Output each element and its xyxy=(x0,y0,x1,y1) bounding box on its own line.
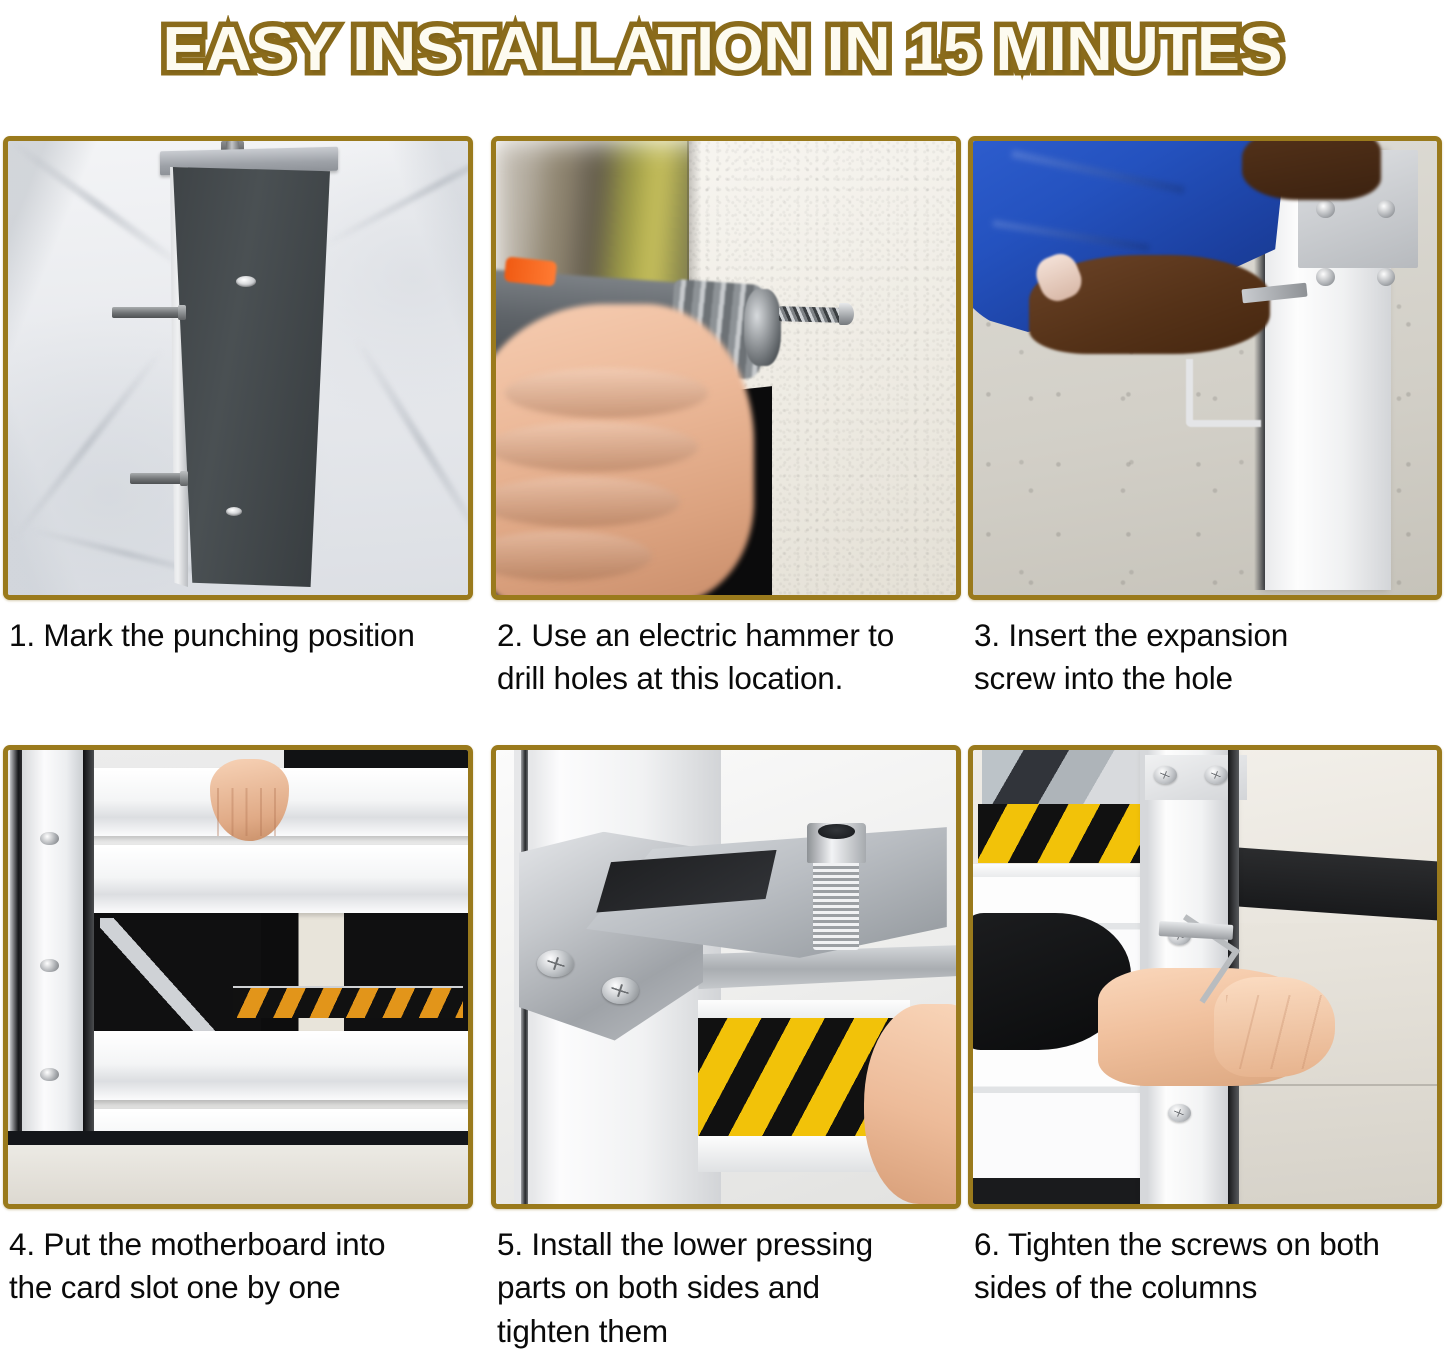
operator-fingers xyxy=(1214,977,1335,1077)
step-caption-3: 3. Insert the expansion screw into the h… xyxy=(968,614,1442,701)
worker-upper-hand xyxy=(1242,141,1381,200)
barrier-board xyxy=(82,1031,468,1099)
floor-surface xyxy=(8,1145,468,1204)
step-caption-5: 5. Install the lower pressing parts on b… xyxy=(491,1223,961,1352)
finger-crease xyxy=(505,368,707,418)
upper-frame-detail xyxy=(982,750,1140,804)
drill-holes-photo[interactable] xyxy=(491,136,961,600)
bracket-screw xyxy=(602,977,639,1004)
step-card-5: 5. Install the lower pressing parts on b… xyxy=(491,745,961,1352)
step-card-6: 6. Tighten the screws on both sides of t… xyxy=(968,745,1442,1310)
inserting-hand xyxy=(210,759,288,841)
insert-expansion-screw-photo[interactable] xyxy=(968,136,1442,600)
photo-canvas-6 xyxy=(973,750,1437,1204)
lower-pressing-parts-photo[interactable] xyxy=(491,745,961,1209)
step-card-4: 4. Put the motherboard into the card slo… xyxy=(3,745,473,1310)
insert-boards-photo[interactable] xyxy=(3,745,473,1209)
step-caption-1: 1. Mark the punching position xyxy=(3,614,473,657)
expansion-bolt-lower xyxy=(130,473,184,484)
photo-canvas-2 xyxy=(496,141,956,595)
column-screw xyxy=(1316,268,1335,286)
mark-punching-position-photo[interactable] xyxy=(3,136,473,600)
diagonal-brace xyxy=(100,918,220,1032)
hazard-stripe-tape xyxy=(978,804,1145,863)
allen-key-on-floor xyxy=(1186,359,1260,427)
expansion-bolt-upper xyxy=(112,307,182,318)
photo-canvas-4 xyxy=(8,750,468,1204)
page-title: EASY INSTALLATION IN 15 MINUTES xyxy=(163,19,1283,81)
installation-guide-page: EASY INSTALLATION IN 15 MINUTES xyxy=(0,0,1445,1352)
thumb-bolt-socket xyxy=(818,824,855,839)
post-hole-lower xyxy=(226,507,242,516)
drill-trigger xyxy=(504,256,557,286)
photo-canvas-1 xyxy=(8,141,468,595)
column-screw-top-left xyxy=(1154,766,1177,784)
drill-bit xyxy=(779,306,844,323)
bracket-screw xyxy=(537,950,574,977)
drill-chuck-head xyxy=(744,289,781,366)
photo-canvas-3 xyxy=(973,141,1437,595)
tighten-column-screws-photo[interactable] xyxy=(968,745,1442,1209)
step-caption-4: 4. Put the motherboard into the card slo… xyxy=(3,1223,473,1310)
post-hole-upper xyxy=(236,276,256,287)
step-caption-6: 6. Tighten the screws on both sides of t… xyxy=(968,1223,1442,1310)
barrier-board xyxy=(82,845,468,913)
photo-canvas-5 xyxy=(496,750,956,1204)
mounting-post-body xyxy=(168,167,330,587)
column-screw xyxy=(40,832,58,846)
step-card-2: 2. Use an electric hammer to drill holes… xyxy=(491,136,961,701)
header-banner: EASY INSTALLATION IN 15 MINUTES xyxy=(0,0,1445,100)
column-screw xyxy=(40,959,58,973)
column-screw xyxy=(40,1068,58,1082)
hazard-stripe-tape xyxy=(233,986,463,1018)
column-screw-top-right xyxy=(1205,766,1228,784)
step-caption-2: 2. Use an electric hammer to drill holes… xyxy=(491,614,961,701)
column-screw xyxy=(1316,200,1335,218)
step-card-3: 3. Insert the expansion screw into the h… xyxy=(968,136,1442,701)
step-card-1: 1. Mark the punching position xyxy=(3,136,473,657)
